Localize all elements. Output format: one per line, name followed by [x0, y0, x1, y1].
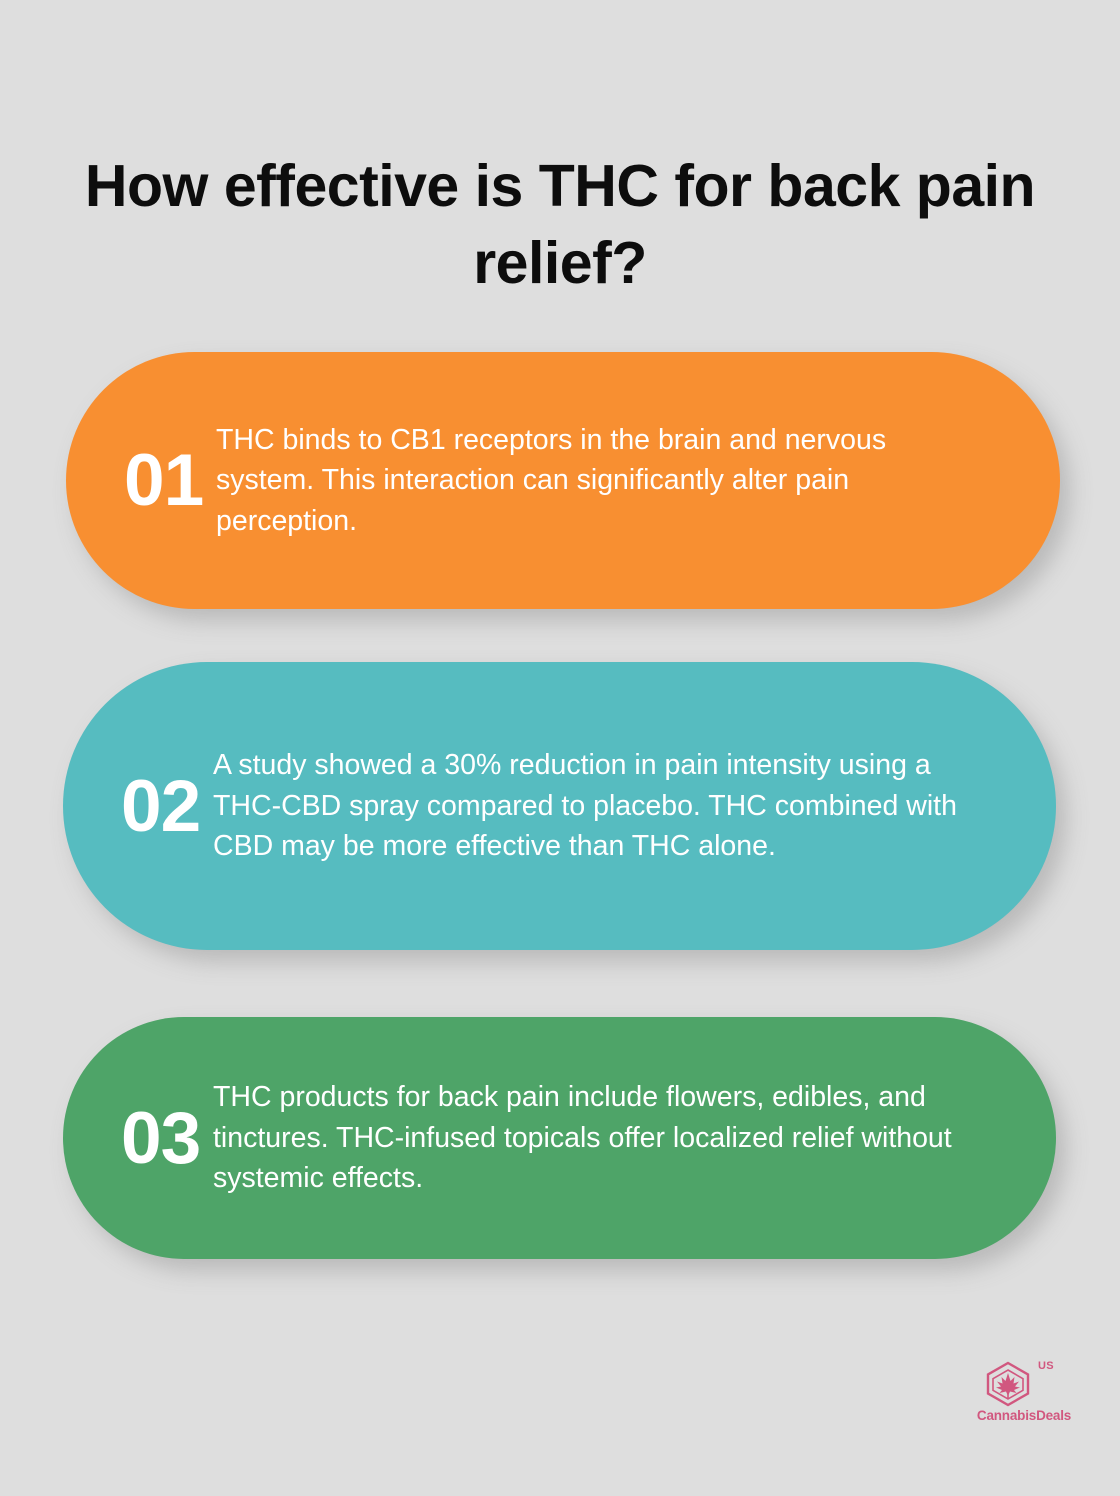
brand-logo: US CannabisDeals	[968, 1358, 1080, 1430]
card-text-03: THC products for back pain include flowe…	[213, 1077, 1056, 1198]
hexagon-cannabis-leaf-icon	[982, 1360, 1034, 1408]
card-number-03: 03	[63, 1102, 213, 1175]
card-text-02: A study showed a 30% reduction in pain i…	[213, 745, 1056, 866]
info-card-01: 01 THC binds to CB1 receptors in the bra…	[66, 352, 1060, 609]
page-title: How effective is THC for back pain relie…	[70, 148, 1050, 304]
logo-superscript: US	[1038, 1360, 1054, 1372]
info-card-02: 02 A study showed a 30% reduction in pai…	[63, 662, 1056, 950]
infographic-page: How effective is THC for back pain relie…	[0, 0, 1120, 1496]
card-text-01: THC binds to CB1 receptors in the brain …	[216, 420, 1060, 541]
card-number-01: 01	[66, 444, 216, 517]
card-number-02: 02	[63, 770, 213, 843]
logo-wordmark: CannabisDeals	[968, 1408, 1080, 1423]
info-card-03: 03 THC products for back pain include fl…	[63, 1017, 1056, 1259]
